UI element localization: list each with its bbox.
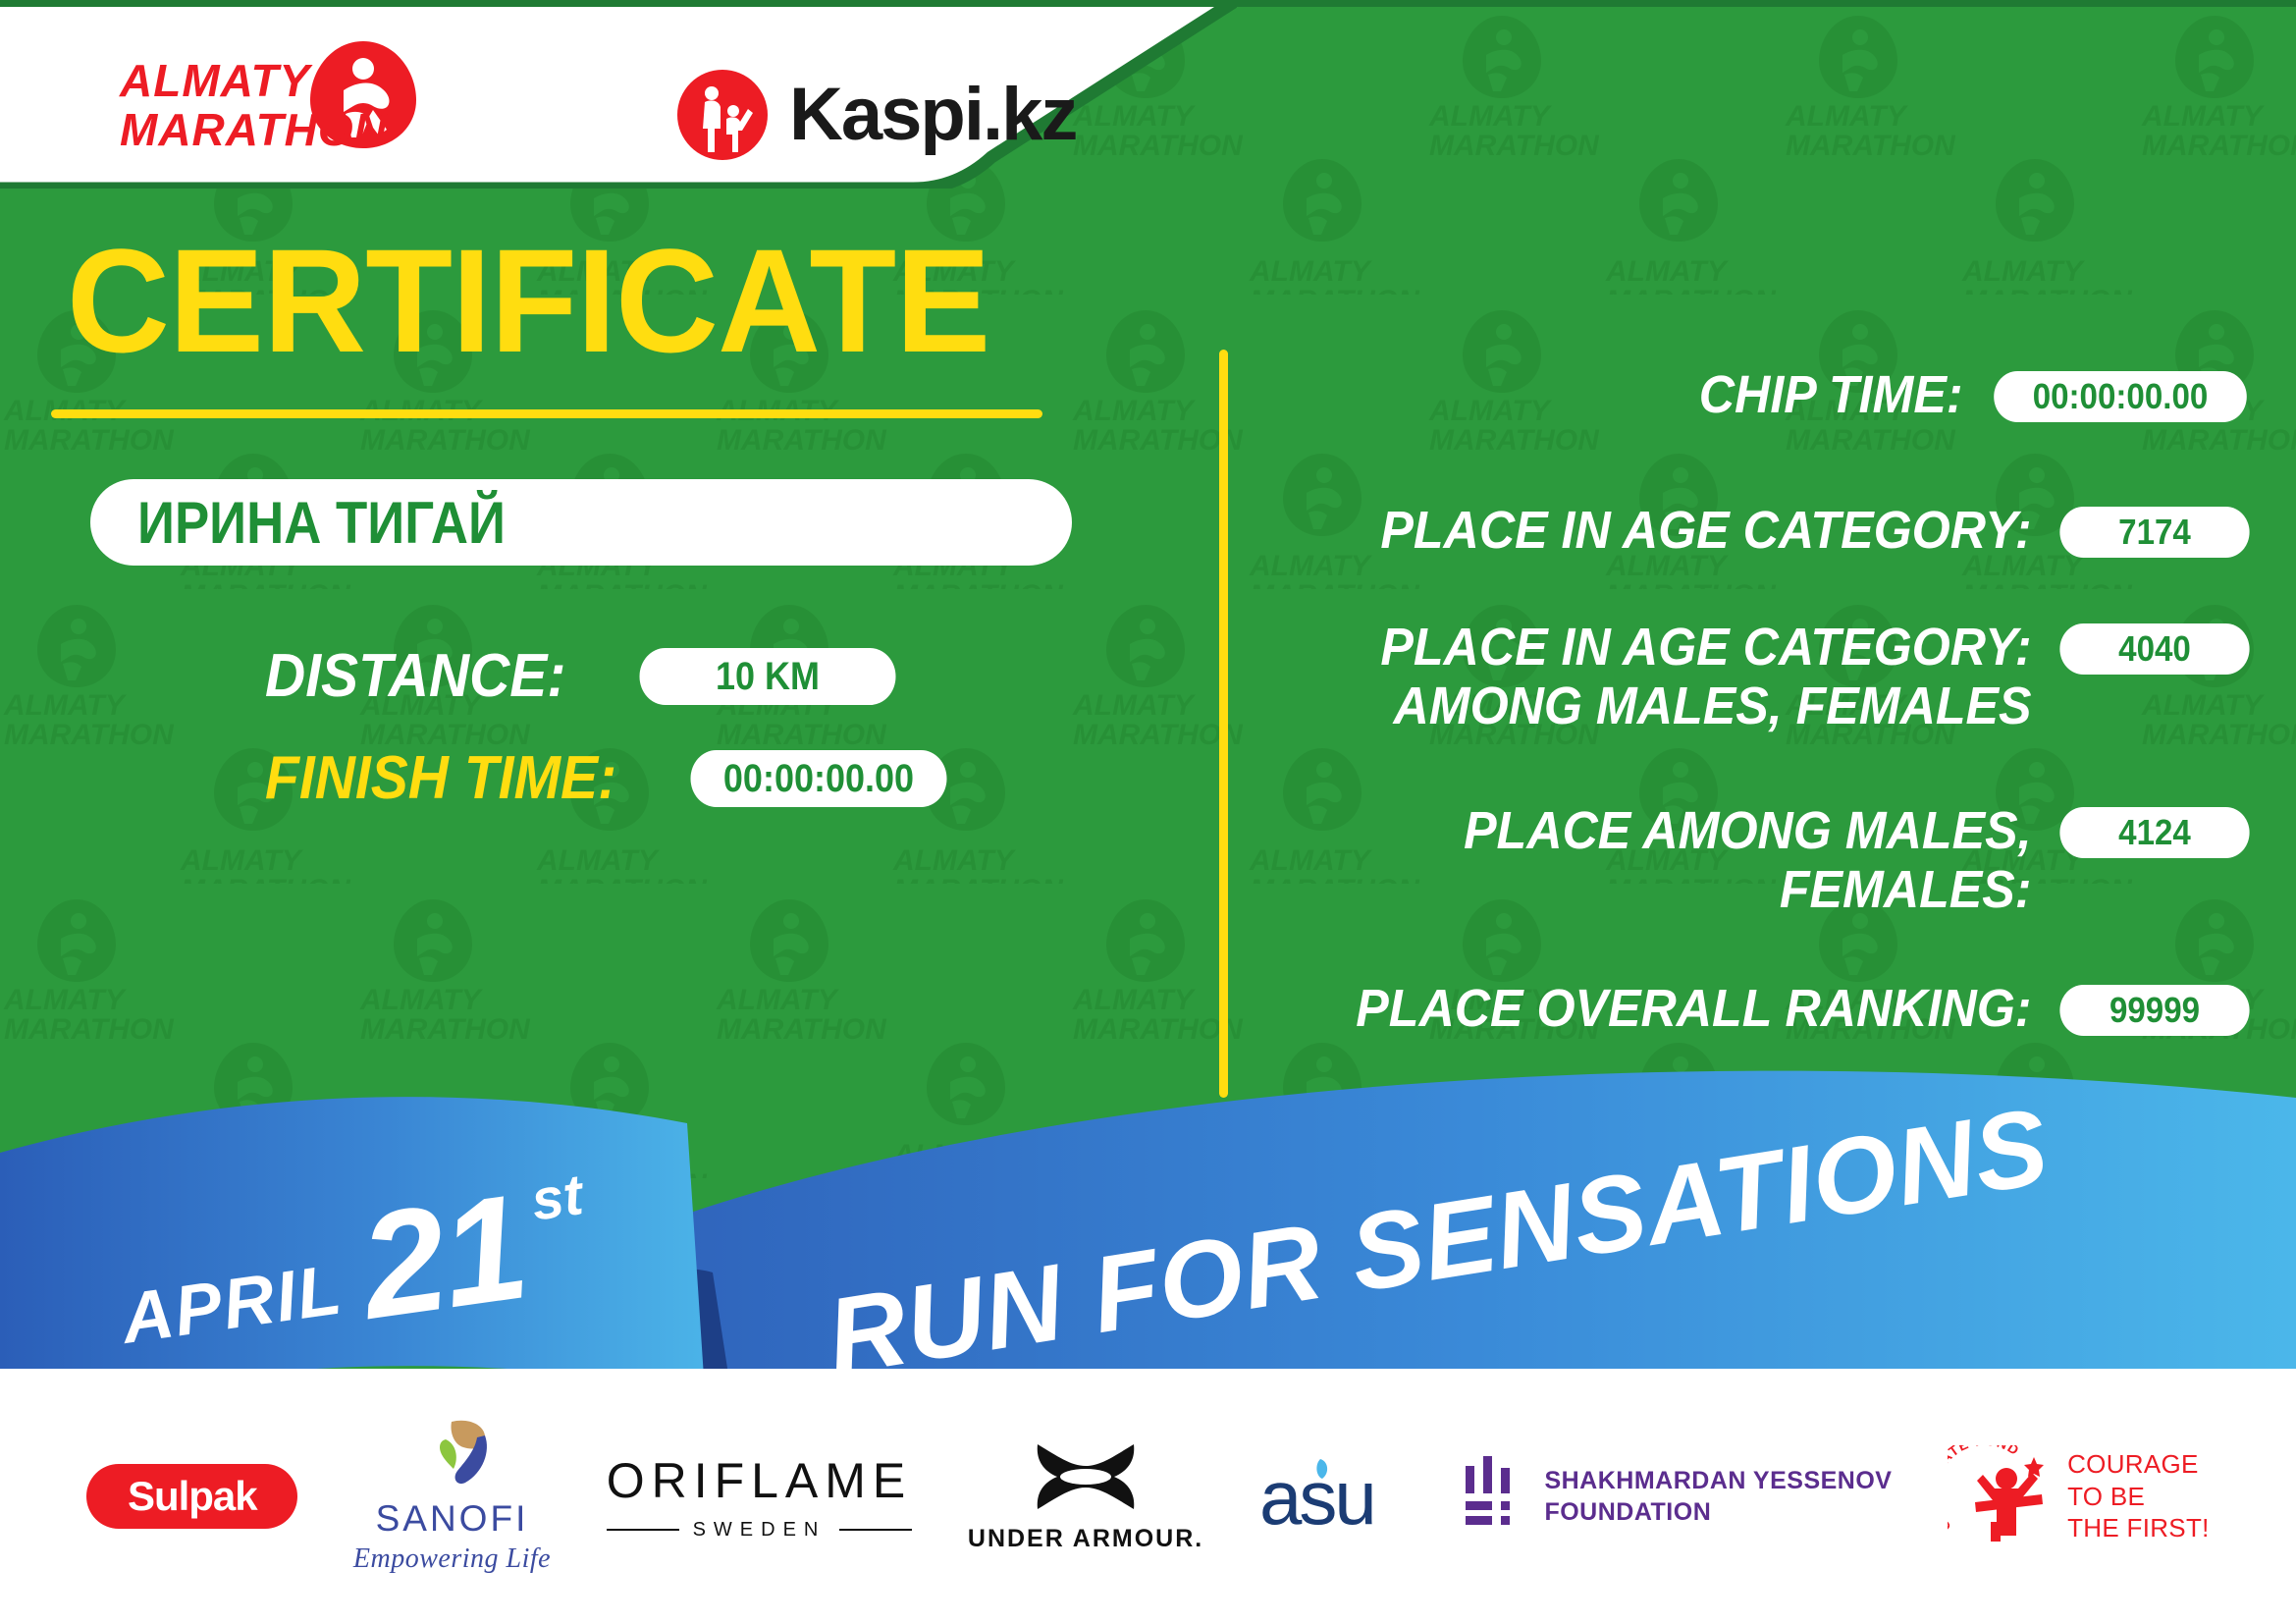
under-armour-icon (1028, 1440, 1144, 1517)
almaty-marathon-logo: ALMATY MARATHON (116, 35, 440, 158)
sulpak-logo-text: Sulpak (128, 1473, 257, 1520)
finish-time-value: 00:00:00.00 (691, 750, 947, 807)
top-green-rule (0, 0, 2296, 7)
place-among-sex-label: PLACE AMONG MALES, FEMALES: (1330, 801, 2052, 920)
place-among-sex-value: 4124 (2059, 807, 2249, 858)
place-age-category-sex-label: PLACE IN AGE CATEGORY: AMONG MALES, FEMA… (1330, 618, 2052, 736)
oriflame-rule-right (839, 1529, 912, 1531)
sponsor-sanofi: SANOFI Empowering Life (353, 1418, 551, 1575)
left-column: CERTIFICATE ИРИНА ТИГАЙ DISTANCE: 10 KM … (0, 226, 1158, 809)
yessenov-line-1: SHAKHMARDAN YESSENOV (1544, 1467, 1892, 1494)
courage-line-2: TO BE (2067, 1482, 2145, 1511)
under-armour-logo-text: UNDER ARMOUR. (968, 1525, 1203, 1553)
place-age-category-sex-row: PLACE IN AGE CATEGORY: AMONG MALES, FEMA… (1276, 618, 2258, 736)
title-underline (51, 409, 1042, 418)
participant-name-field[interactable]: ИРИНА ТИГАЙ (90, 479, 1072, 566)
place-overall-value: 99999 (2059, 985, 2249, 1036)
place-overall-label: PLACE OVERALL RANKING: (1330, 979, 2052, 1038)
place-age-category-sex-value: 4040 (2059, 623, 2249, 675)
distance-value: 10 KM (639, 648, 895, 705)
sanofi-mark-icon (406, 1418, 497, 1494)
courage-text: COURAGE TO BE THE FIRST! (2067, 1448, 2210, 1544)
yessenov-text: SHAKHMARDAN YESSENOV FOUNDATION (1544, 1465, 1892, 1529)
kaspi-people-icon (677, 70, 768, 160)
place-overall-row: PLACE OVERALL RANKING: 99999 (1276, 979, 2258, 1038)
oriflame-sub-text: SWEDEN (693, 1519, 827, 1542)
almaty-logo-line2: MARATHON (120, 104, 388, 155)
label-line-1: PLACE AMONG MALES, (1464, 801, 2031, 860)
sanofi-logo-text: SANOFI (376, 1498, 529, 1540)
yessenov-line-2: FOUNDATION (1544, 1498, 1711, 1526)
sanofi-tagline: Empowering Life (353, 1543, 551, 1575)
yessenov-mark-icon (1462, 1456, 1522, 1537)
finish-time-label: FINISH TIME: (265, 748, 616, 809)
sponsor-asu: asu (1259, 1451, 1407, 1542)
oriflame-logo-text: ORIFLAME (607, 1452, 913, 1509)
chip-time-label: CHIP TIME: (1325, 365, 1983, 424)
kaspi-logo: Kaspi.kz (677, 61, 1090, 169)
chip-time-value: 00:00:00.00 (1994, 371, 2247, 422)
courage-line-3: THE FIRST! (2067, 1513, 2210, 1543)
courage-line-1: COURAGE (2067, 1449, 2199, 1479)
sponsor-yessenov-foundation: SHAKHMARDAN YESSENOV FOUNDATION (1462, 1456, 1892, 1537)
certificate-canvas: ALMATY MARATHON Kaspi.kz CERTIFICATE ИРИ… (0, 0, 2296, 1624)
almaty-logo-line1: ALMATY (119, 55, 314, 106)
sponsor-strip: Sulpak SANOFI Empowering Life ORIFLAME S… (0, 1369, 2296, 1624)
label-line-1: PLACE IN AGE CATEGORY: (1380, 618, 2031, 677)
place-age-category-label: PLACE IN AGE CATEGORY: (1330, 501, 2052, 560)
distance-label: DISTANCE: (265, 646, 565, 707)
participant-name-value: ИРИНА ТИГАЙ (137, 489, 506, 557)
courage-fund-icon: CORPORATE FUND (1948, 1445, 2054, 1547)
label-line-2: FEMALES: (1780, 860, 2032, 919)
ribbon-day: 21 (348, 1163, 535, 1351)
kaspi-logo-text: Kaspi.kz (789, 78, 1076, 152)
finish-time-row: FINISH TIME: 00:00:00.00 (265, 748, 1158, 809)
sponsor-under-armour: UNDER ARMOUR. (968, 1440, 1203, 1553)
distance-row: DISTANCE: 10 KM (265, 646, 1158, 707)
asu-logo-icon: asu (1259, 1451, 1407, 1542)
oriflame-rule-left (607, 1529, 679, 1531)
sponsor-sulpak: Sulpak (86, 1464, 297, 1529)
place-age-category-value: 7174 (2059, 507, 2249, 558)
place-age-category-row: PLACE IN AGE CATEGORY: 7174 (1276, 501, 2258, 560)
sponsor-courage-fund: CORPORATE FUND COURAGE TO BE THE FIRST! (1948, 1445, 2210, 1547)
label-line-2: AMONG MALES, FEMALES (1393, 677, 2031, 735)
results-column: CHIP TIME: 00:00:00.00 PLACE IN AGE CATE… (1276, 365, 2258, 1083)
chip-time-row: CHIP TIME: 00:00:00.00 (1276, 365, 2258, 424)
certificate-title: CERTIFICATE (0, 226, 1124, 376)
place-among-sex-row: PLACE AMONG MALES, FEMALES: 4124 (1276, 801, 2258, 920)
yellow-vertical-divider (1219, 350, 1228, 1098)
sponsor-oriflame: ORIFLAME SWEDEN (607, 1452, 913, 1542)
asu-logo-text: asu (1259, 1454, 1374, 1541)
